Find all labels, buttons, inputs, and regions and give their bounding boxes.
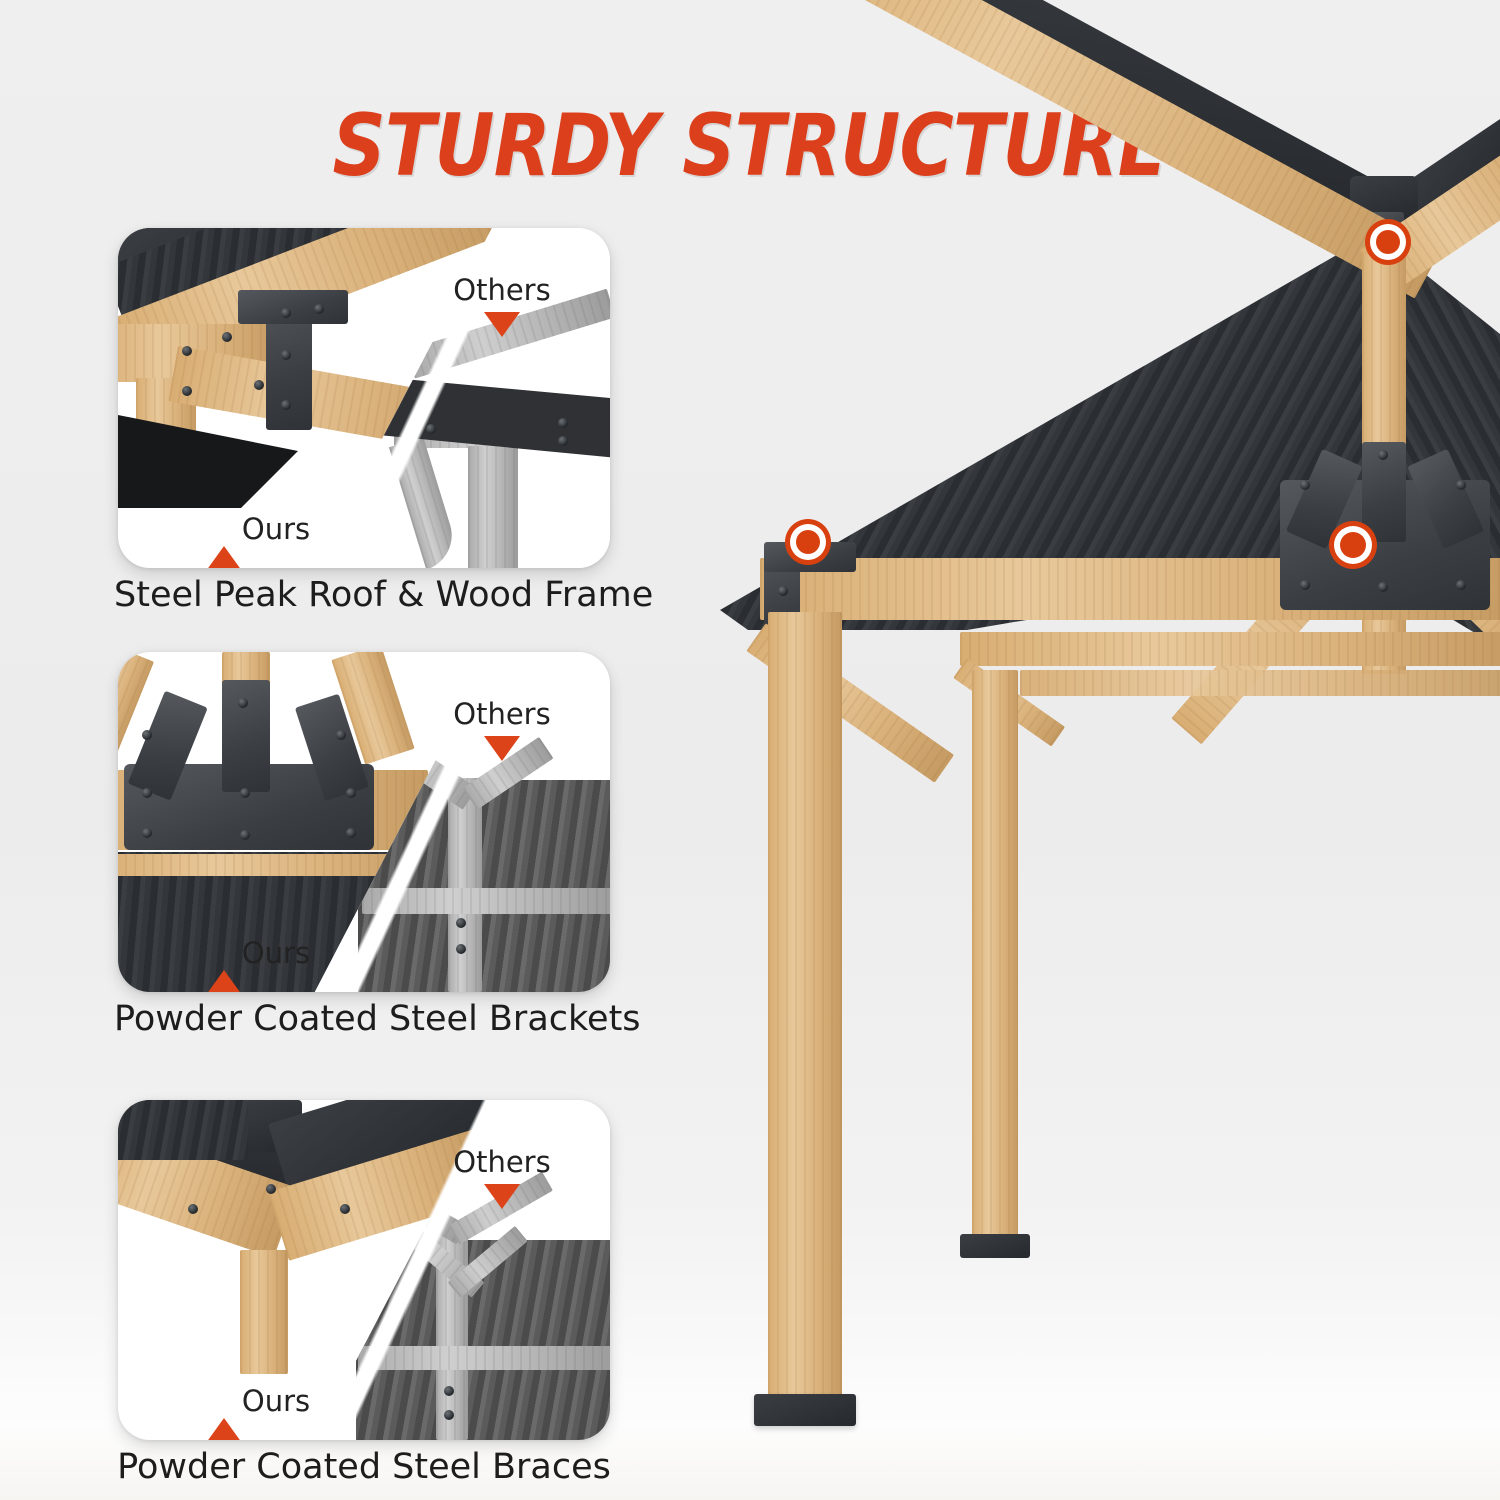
front-post-base-plate — [754, 1394, 856, 1426]
others-label-group: Others — [422, 1148, 582, 1209]
ours-label-text: Ours — [242, 512, 310, 546]
triangle-down-icon — [484, 1184, 520, 1209]
rear-post-base-plate — [960, 1234, 1030, 1258]
feature-caption-steel-peak-roof-wood-frame: Steel Peak Roof & Wood Frame — [114, 575, 614, 615]
others-label-text: Others — [453, 697, 550, 731]
ours-label-group: Ours — [178, 1387, 338, 1416]
ours-label-group: Ours — [178, 939, 338, 968]
feature-card-steel-peak-roof-wood-frame[interactable]: Others Ours — [118, 228, 610, 568]
ours-label-text: Ours — [242, 1384, 310, 1418]
secondary-beam — [960, 632, 1500, 666]
hero-gazebo-illustration — [660, 150, 1500, 1450]
others-label-group: Others — [422, 276, 582, 337]
others-label-text: Others — [453, 1145, 550, 1179]
triangle-down-icon — [484, 736, 520, 761]
feature-caption-powder-coated-steel-brackets: Powder Coated Steel Brackets — [114, 999, 614, 1039]
ours-label-group: Ours — [178, 515, 338, 544]
others-label-group: Others — [422, 700, 582, 761]
corner-bracket-highlight[interactable] — [796, 530, 820, 554]
fan-bracket-highlight[interactable] — [1340, 532, 1366, 558]
feature-card-powder-coated-steel-brackets[interactable]: Others Ours — [118, 652, 610, 992]
others-label-text: Others — [453, 273, 550, 307]
triangle-up-icon — [206, 936, 242, 992]
triangle-up-icon — [206, 512, 242, 568]
front-post — [768, 612, 842, 1402]
triangle-down-icon — [484, 312, 520, 337]
feature-caption-powder-coated-steel-braces: Powder Coated Steel Braces — [114, 1447, 614, 1487]
peak-brace-highlight[interactable] — [1376, 230, 1400, 254]
rear-beam — [1020, 670, 1500, 696]
ours-label-text: Ours — [242, 936, 310, 970]
rear-post — [972, 670, 1018, 1240]
marketing-image-canvas: STURDY STRUCTURE — [0, 0, 1500, 1500]
triangle-up-icon — [206, 1384, 242, 1440]
feature-card-powder-coated-steel-braces[interactable]: Others Ours — [118, 1100, 610, 1440]
